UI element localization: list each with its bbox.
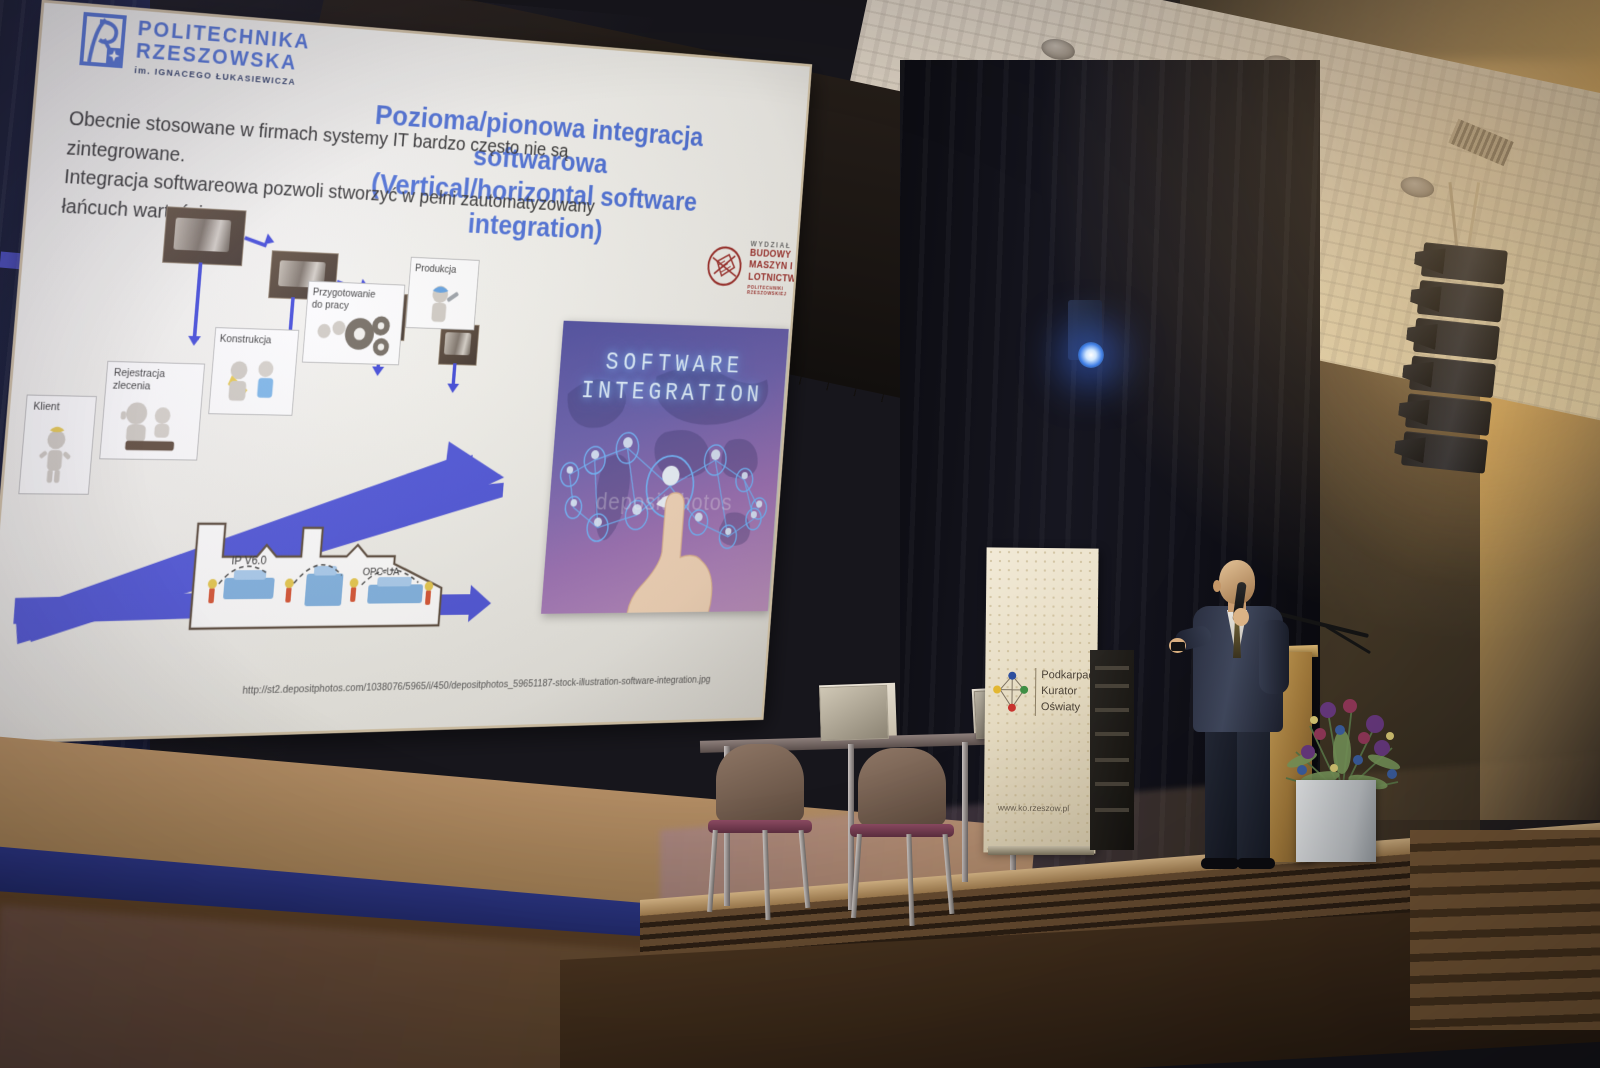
designer-icon [212, 354, 291, 408]
process-thumbnail [162, 206, 246, 266]
faculty-line-2: BUDOWY MASZYN I LOTNICTWA [748, 248, 805, 286]
process-arrowhead [447, 384, 459, 394]
faculty-logo: WYDZIAŁ BUDOWY MASZYN I LOTNICTWA POLITE… [703, 237, 805, 298]
factory-label-ipv6: IP V6.0 [231, 554, 267, 568]
process-down-arrow [192, 262, 202, 340]
banner-url: www.ko.rzeszow.pl [998, 803, 1069, 814]
pointing-hand [620, 491, 724, 614]
presenter [1175, 560, 1305, 870]
value-chain-diagram: Klient Rejestracja zlecenia K [0, 3, 586, 701]
leg-left [1205, 724, 1237, 864]
si-title-line-2: INTEGRATION [557, 377, 785, 410]
stage-steps [1410, 830, 1600, 1030]
shoe-right [1237, 858, 1275, 869]
process-arrowhead [264, 234, 276, 248]
blue-stage-light [1078, 342, 1104, 368]
factory-label-opcua: OPC-UA [362, 567, 400, 579]
shoe-left [1201, 858, 1239, 869]
chair-seat [850, 824, 954, 837]
projection-screen-assembly: POLITECHNIKA RZESZOWSKA im. IGNACEGO ŁUK… [0, 0, 856, 845]
factory-diagram: IP V6.0 OPC-UA [184, 506, 456, 633]
projection-screen: POLITECHNIKA RZESZOWSKA im. IGNACEGO ŁUK… [0, 3, 810, 742]
conference-photo-scene: POLITECHNIKA RZESZOWSKA im. IGNACEGO ŁUK… [0, 0, 1600, 1068]
gears-icon [306, 307, 397, 361]
chair-seat [708, 820, 812, 833]
faculty-line-3: POLITECHNIKI RZESZOWSKIEJ [747, 285, 802, 298]
ear [1213, 580, 1221, 592]
faculty-logo-mark [704, 243, 746, 289]
chair-backrest [858, 748, 946, 826]
table-leg [962, 742, 968, 882]
leg-right [1237, 724, 1270, 864]
arm-right [1259, 620, 1289, 694]
av-equipment-rack [1090, 650, 1134, 850]
rollup-banner: Podkarpacki Kurator Oświaty www.ko.rzesz… [983, 547, 1098, 853]
banner-base [988, 846, 1094, 855]
hand-holding-microphone [1233, 608, 1249, 626]
kuratorium-logo-icon [993, 667, 1032, 715]
presentation-clicker [1171, 642, 1185, 651]
worker-icon [411, 279, 472, 326]
laptop-or-card [819, 685, 889, 741]
software-integration-image: SOFTWARE INTEGRATION [541, 321, 789, 614]
chair-backrest [716, 744, 804, 822]
planter-box [1296, 780, 1376, 862]
process-label: Konstrukcja [219, 333, 291, 347]
process-label: Klient [33, 401, 91, 415]
process-label: Rejestracja zlecenia [112, 367, 179, 393]
process-arrowhead [187, 336, 201, 346]
process-arrowhead [371, 366, 384, 376]
